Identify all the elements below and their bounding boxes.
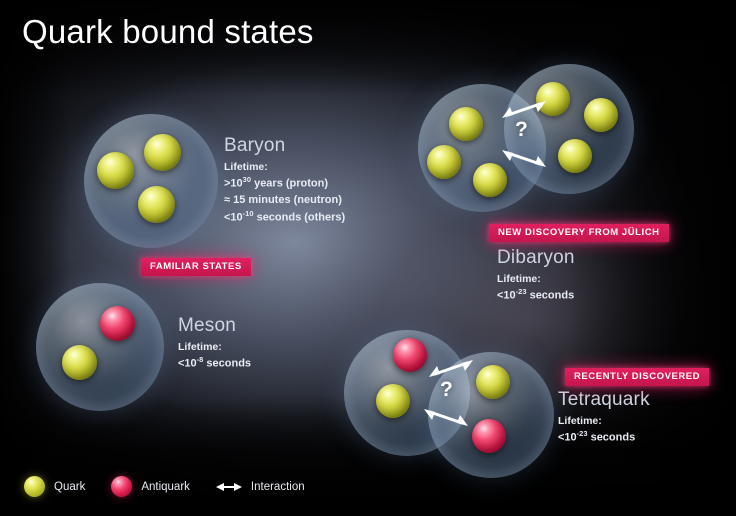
baryon-lifetime-line-1: >1030 years (proton) [224,175,345,193]
meson-line1-suffix: seconds [203,358,251,370]
dibaryon-title: Dibaryon [497,247,575,269]
baryon-line1-suffix: years (proton) [251,178,328,190]
baryon-lifetime-line-2: ≈ 15 minutes (neutron) [224,193,345,209]
dibaryon-lifetime-line-1: <10-23 seconds [497,287,575,305]
dibaryon-quark-2 [427,145,461,179]
dibaryon-quark-6 [558,139,592,173]
dibaryon-line1-exponent: -23 [516,287,527,296]
baryon-line3-suffix: seconds (others) [254,211,346,223]
tetraquark-antiquark-2 [472,419,506,453]
tetraquark-title: Tetraquark [558,389,650,411]
meson-antiquark-1 [100,306,135,341]
quark-icon [24,476,45,497]
legend-item-quark: Quark [24,476,85,497]
tetraquark-line1-prefix: <10 [558,432,577,444]
tetraquark-question-mark: ? [440,378,453,402]
page-title: Quark bound states [22,13,314,51]
badge-familiar-states: FAMILIAR STATES [141,258,251,276]
meson-info: Meson Lifetime: <10-8 seconds [178,315,251,373]
antiquark-icon [111,476,132,497]
tetraquark-interaction-arrow-bottom [422,405,470,431]
tetraquark-info: Tetraquark Lifetime: <10-23 seconds [558,389,650,447]
baryon-quark-2 [144,134,181,171]
tetraquark-interaction-arrow-top [427,355,475,381]
baryon-line3-exponent: -10 [243,209,254,218]
legend-label-quark: Quark [54,481,85,493]
tetraquark-line1-suffix: seconds [588,432,636,444]
tetraquark-quark-1 [376,384,410,418]
tetraquark-line1-exponent: -23 [577,429,588,438]
baryon-quark-1 [97,152,134,189]
background-left-fade [0,0,70,516]
legend: Quark Antiquark Interaction [24,476,331,497]
tetraquark-lifetime-line-1: <10-23 seconds [558,429,650,447]
legend-label-interaction: Interaction [251,481,305,493]
baryon-title: Baryon [224,135,345,157]
dibaryon-line1-suffix: seconds [527,290,575,302]
dibaryon-line1-prefix: <10 [497,290,516,302]
meson-containment-sphere [36,283,164,411]
tetraquark-antiquark-1 [393,338,427,372]
infographic-canvas: Quark bound states Baryon Lifetime: >103… [0,0,736,516]
double-arrow-icon [216,480,242,494]
baryon-lifetime-line-3: <10-10 seconds (others) [224,209,345,227]
dibaryon-info: Dibaryon Lifetime: <10-23 seconds [497,247,575,305]
legend-label-antiquark: Antiquark [141,481,190,493]
baryon-info: Baryon Lifetime: >1030 years (proton) ≈ … [224,135,345,226]
dibaryon-quark-1 [449,107,483,141]
legend-item-antiquark: Antiquark [111,476,190,497]
legend-item-interaction: Interaction [216,480,305,494]
baryon-line3-prefix: <10 [224,211,243,223]
baryon-line2-prefix: ≈ 15 minutes (neutron) [224,194,342,206]
meson-lifetime-label: Lifetime: [178,340,251,355]
meson-quark-1 [62,345,97,380]
baryon-lifetime-label: Lifetime: [224,160,345,175]
badge-new-discovery-julich: NEW DISCOVERY FROM JÜLICH [489,224,669,242]
tetraquark-quark-2 [476,365,510,399]
meson-title: Meson [178,315,251,337]
baryon-line1-prefix: >10 [224,178,243,190]
dibaryon-lifetime-label: Lifetime: [497,272,575,287]
dibaryon-interaction-arrow-top [500,96,548,122]
baryon-line1-exponent: 30 [243,175,251,184]
tetraquark-lifetime-label: Lifetime: [558,414,650,429]
meson-lifetime-line-1: <10-8 seconds [178,355,251,373]
baryon-quark-3 [138,186,175,223]
badge-recently-discovered: RECENTLY DISCOVERED [565,368,709,386]
dibaryon-quark-5 [584,98,618,132]
dibaryon-interaction-arrow-bottom [500,146,548,172]
meson-line1-prefix: <10 [178,358,197,370]
